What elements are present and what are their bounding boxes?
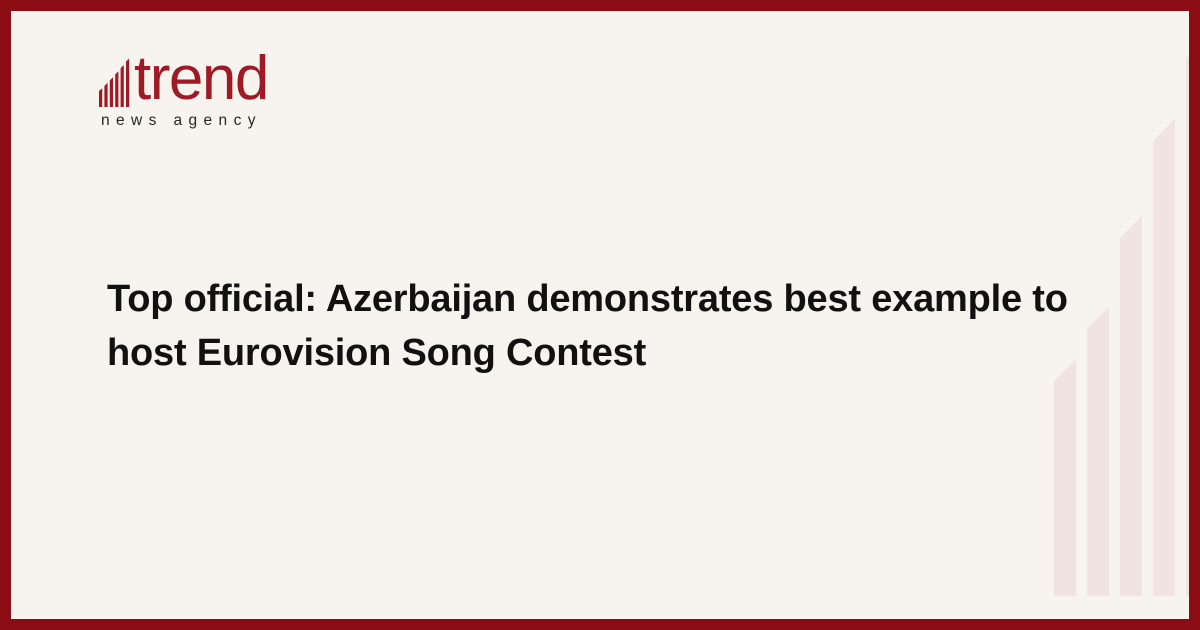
logo-tagline: news agency — [101, 112, 399, 130]
logo-wordmark: trend — [134, 50, 268, 107]
decor-bar-5 — [1186, 37, 1189, 596]
trend-rising-bars-icon — [99, 55, 133, 107]
share-card: trend news agency Top official: Azerbaij… — [0, 0, 1200, 630]
page-title: Top official: Azerbaijan demonstrates be… — [107, 273, 1107, 381]
logo-row: trend — [99, 45, 399, 107]
headline-line-1: Top official: Azerbaijan demonstrates be… — [107, 278, 1068, 320]
card-canvas: trend news agency Top official: Azerbaij… — [11, 11, 1189, 619]
decor-bar-1 — [1054, 359, 1076, 596]
trend-logo[interactable]: trend news agency — [99, 45, 399, 130]
headline-line-2: host Eurovision Song Contest — [107, 332, 646, 374]
decor-bar-3 — [1120, 216, 1142, 596]
decor-bar-4 — [1153, 119, 1175, 596]
